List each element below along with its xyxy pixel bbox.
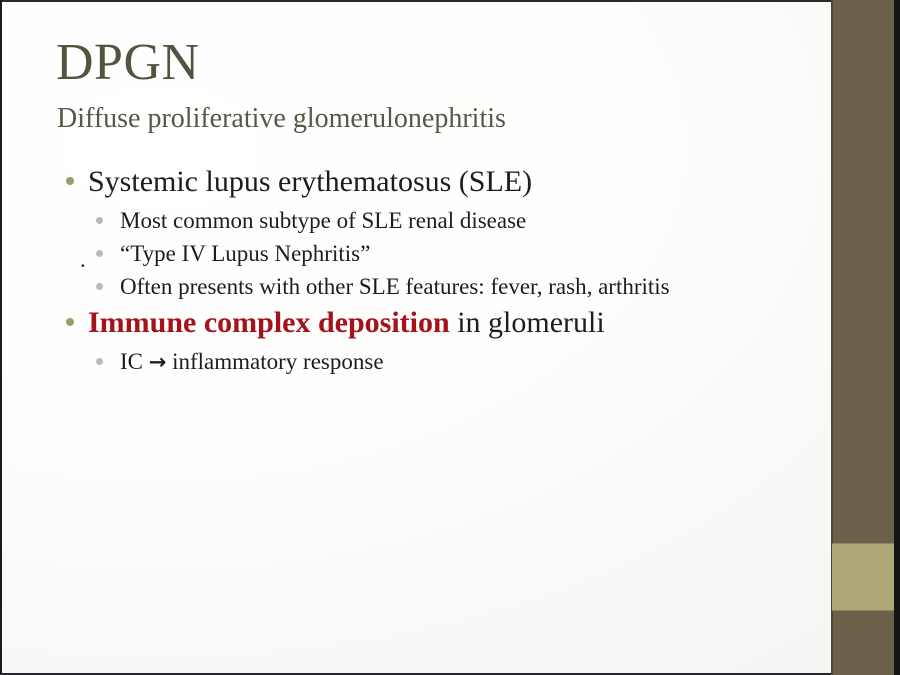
slide-border-top bbox=[0, 0, 900, 2]
stray-period-artifact: . bbox=[80, 248, 86, 271]
list-item-label: Most common subtype of SLE renal disease bbox=[120, 208, 526, 233]
slide-border-left bbox=[0, 0, 2, 675]
bullet-list: Systemic lupus erythematosus (SLE) Most … bbox=[56, 163, 806, 380]
decorative-sidebar-accent-block bbox=[832, 543, 894, 611]
list-item: IC → inflammatory response bbox=[56, 346, 806, 378]
list-item: Immune complex deposition in glomeruli bbox=[56, 304, 806, 342]
list-item-label: Often presents with other SLE features: … bbox=[120, 274, 670, 299]
slide-border-right bbox=[894, 0, 900, 675]
bullet-dot-icon bbox=[96, 283, 103, 290]
list-item: “Type IV Lupus Nephritis” bbox=[56, 238, 806, 269]
presentation-slide: DPGN Diffuse proliferative glomeruloneph… bbox=[0, 0, 900, 675]
bullet-dot-icon bbox=[96, 358, 103, 365]
list-item-label: Systemic lupus erythematosus (SLE) bbox=[88, 165, 532, 198]
bullet-dot-icon bbox=[96, 250, 103, 257]
page-title: DPGN bbox=[56, 36, 200, 90]
list-item: Most common subtype of SLE renal disease bbox=[56, 205, 806, 236]
list-item: Often presents with other SLE features: … bbox=[56, 271, 806, 302]
emphasis-text: Immune complex deposition bbox=[88, 306, 450, 339]
list-item-label: IC → inflammatory response bbox=[120, 349, 384, 374]
bullet-dot-icon bbox=[96, 217, 103, 224]
list-item-label: Immune complex deposition in glomeruli bbox=[88, 306, 605, 339]
page-subtitle: Diffuse proliferative glomerulonephritis bbox=[57, 104, 506, 135]
list-item-label-tail: in glomeruli bbox=[450, 306, 605, 339]
list-item: Systemic lupus erythematosus (SLE) bbox=[56, 163, 806, 201]
list-item-label: “Type IV Lupus Nephritis” bbox=[120, 241, 370, 266]
bullet-dot-icon bbox=[66, 318, 74, 326]
list-item-label-tail: inflammatory response bbox=[166, 349, 383, 374]
bullet-dot-icon bbox=[66, 177, 74, 185]
right-arrow-icon: → bbox=[149, 350, 167, 374]
list-item-label-prefix: IC bbox=[120, 349, 149, 374]
